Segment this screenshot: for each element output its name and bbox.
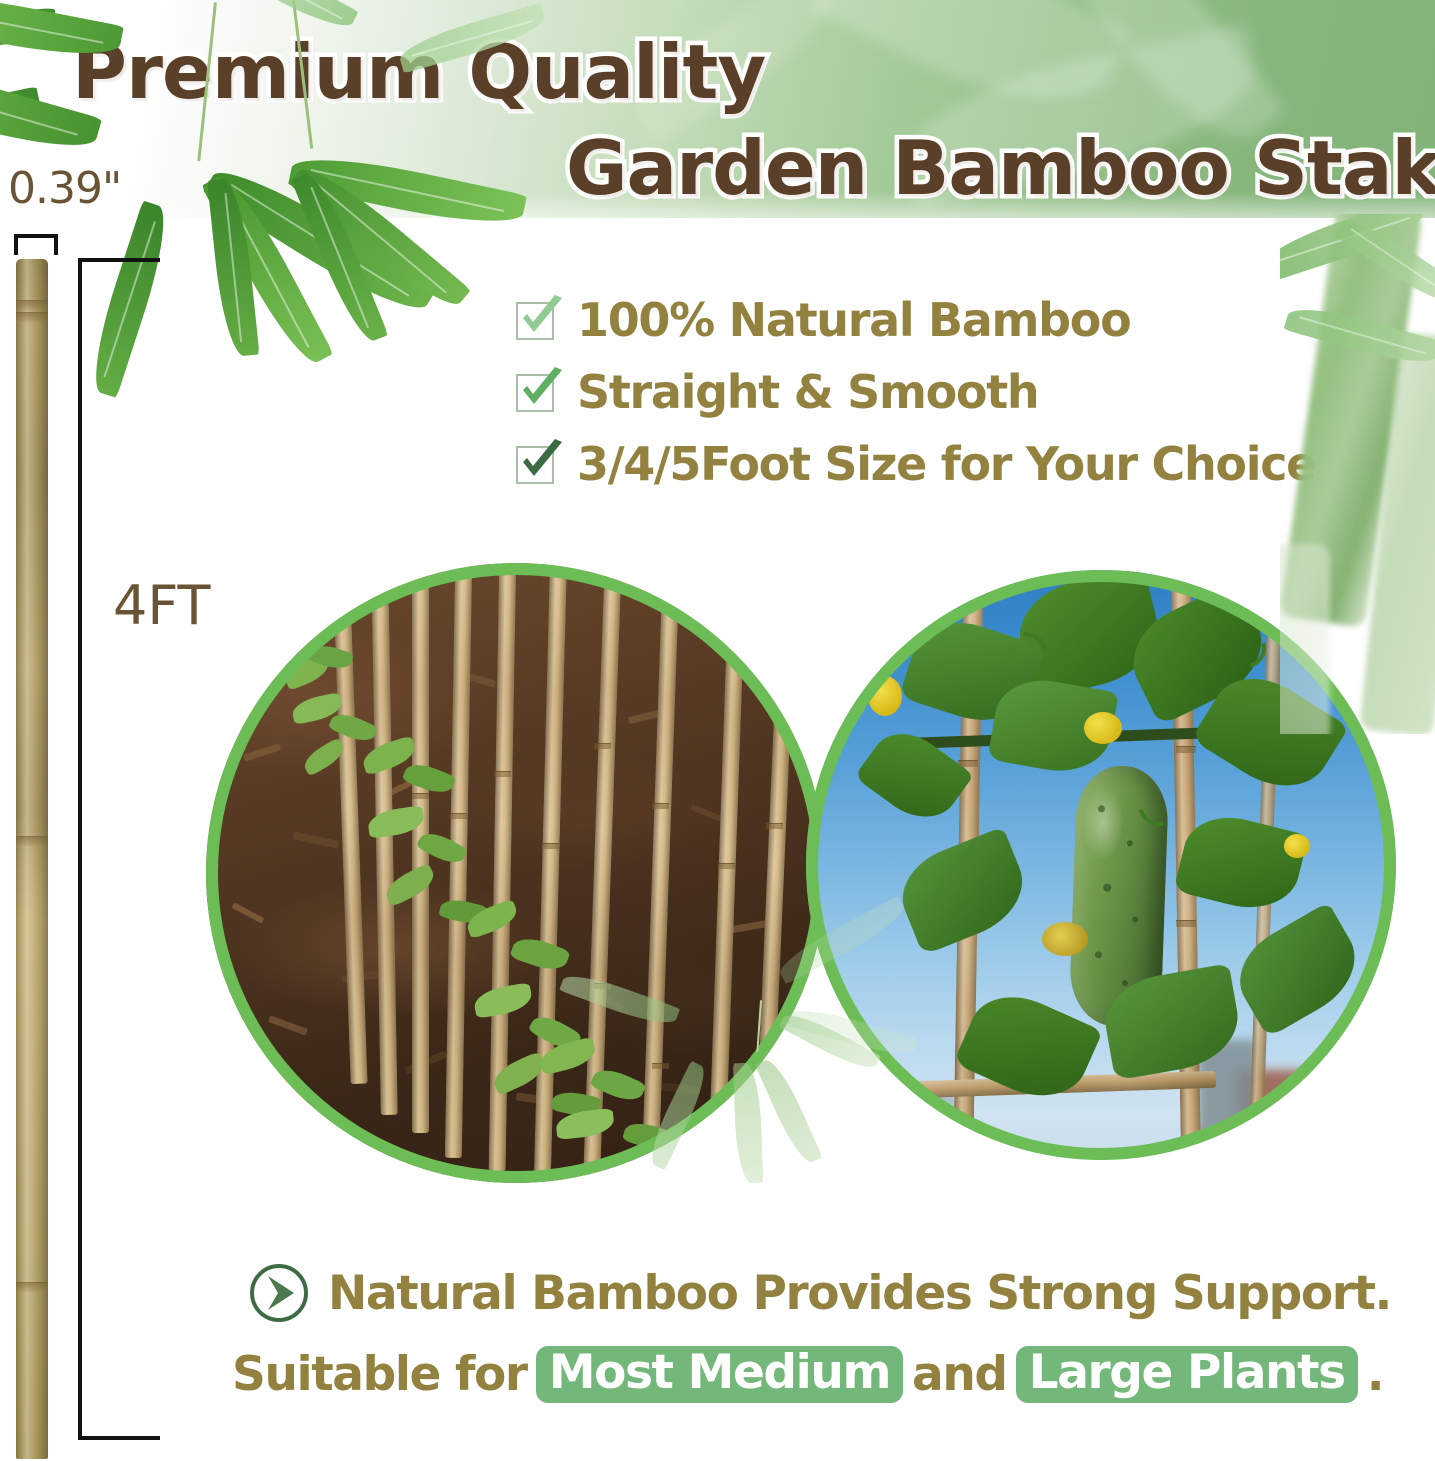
- stake-node: [16, 312, 48, 322]
- callout-text-line1: Natural Bamboo Provides Strong Support.: [328, 1270, 1391, 1317]
- callout-line-2: Suitable for Most Medium and Large Plant…: [232, 1346, 1383, 1403]
- stake-node: [16, 1282, 48, 1292]
- bamboo-leaf-decoration-mid: [700, 1000, 900, 1200]
- feature-label: 100% Natural Bamboo: [577, 297, 1130, 343]
- bamboo-stake-product: [16, 259, 48, 1459]
- callout-highlight-large: Large Plants: [1016, 1346, 1358, 1403]
- feature-label: 3/4/5Foot Size for Your Choice: [577, 441, 1316, 487]
- yellow-flower: [868, 676, 902, 716]
- stake-node: [16, 300, 48, 310]
- feature-list: 100% Natural Bamboo Straight & Smooth 3/…: [516, 288, 1376, 504]
- callout-highlight-medium: Most Medium: [536, 1346, 903, 1403]
- feature-item: Straight & Smooth: [516, 360, 1376, 424]
- height-dimension-tick-bottom: [78, 1436, 160, 1440]
- callout-line2-suffix: .: [1367, 1351, 1383, 1398]
- yellow-flower: [1084, 712, 1122, 744]
- feature-item: 100% Natural Bamboo: [516, 288, 1376, 352]
- bamboo-leaf-cluster-top-left: [0, 0, 560, 430]
- diameter-bracket: [14, 234, 58, 255]
- stake-node: [16, 836, 48, 846]
- feature-item: 3/4/5Foot Size for Your Choice: [516, 432, 1376, 496]
- callout-line2-middle: and: [912, 1351, 1007, 1398]
- check-icon: [516, 442, 560, 486]
- yellow-flower: [1042, 922, 1088, 956]
- height-dimension-line: [78, 258, 82, 1440]
- product-infographic: Premium Quality Garden Bamboo Stakes 0.3…: [0, 0, 1435, 1461]
- bamboo-culm-decoration-right: [1280, 214, 1435, 734]
- stake-diameter-label: 0.39": [8, 163, 121, 214]
- stake-length-label: 4FT: [113, 574, 210, 637]
- feature-label: Straight & Smooth: [577, 369, 1038, 415]
- height-dimension-tick-top: [78, 258, 160, 262]
- yellow-flower: [1284, 834, 1310, 858]
- page-title-line2: Garden Bamboo Stakes: [566, 124, 1435, 212]
- callout-line2-prefix: Suitable for: [232, 1351, 527, 1398]
- arrow-right-circle-icon: [248, 1262, 310, 1324]
- callout-line-1: Natural Bamboo Provides Strong Support.: [248, 1262, 1391, 1324]
